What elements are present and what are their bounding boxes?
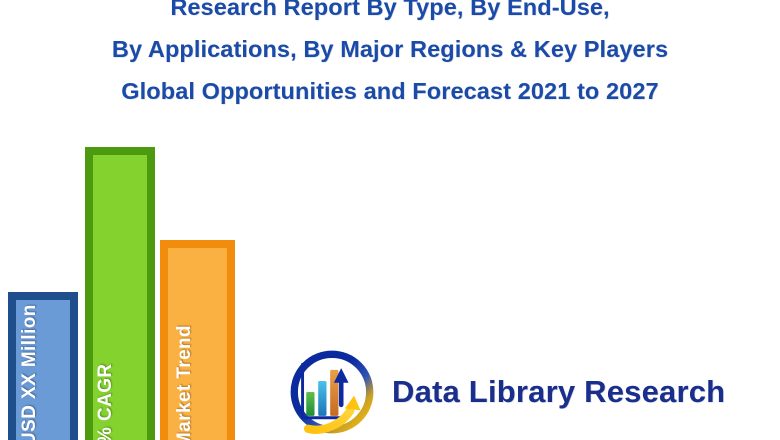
market-research-report-banner: Research Report By Type, By End-Use, By …	[0, 0, 780, 440]
brand-logo: Data Library Research	[286, 344, 716, 440]
bar-percent-cagr-fill	[93, 155, 147, 440]
bar-usd-xx-million: USD XX Million	[8, 292, 78, 440]
bar-market-trend: Market Trend	[160, 240, 235, 440]
title-line-3: Global Opportunities and Forecast 2021 t…	[0, 70, 780, 112]
bar-market-trend-fill	[168, 248, 227, 440]
bar-usd-xx-million-fill	[16, 300, 70, 440]
title-line-2: By Applications, By Major Regions & Key …	[0, 28, 780, 70]
brand-name: Data Library Research	[392, 374, 725, 410]
bar-percent-cagr: % CAGR	[85, 147, 155, 440]
title-line-1: Research Report By Type, By End-Use,	[0, 0, 780, 28]
page-title: Research Report By Type, By End-Use, By …	[0, 0, 780, 112]
data-library-research-logo-icon	[286, 346, 378, 438]
